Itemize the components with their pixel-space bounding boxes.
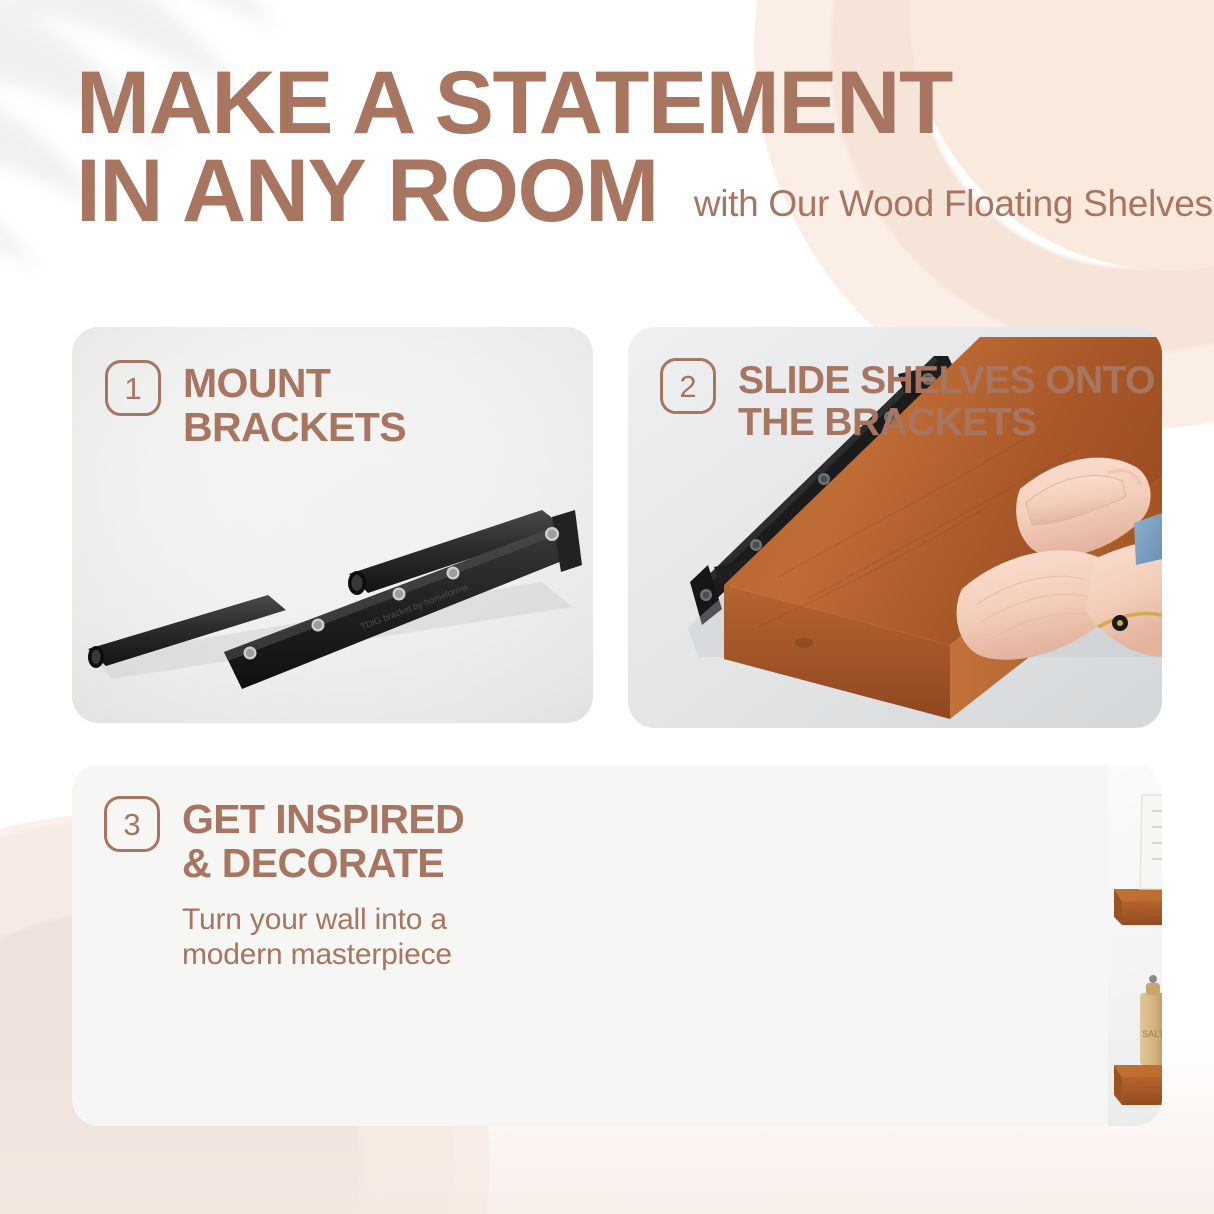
headline-subtitle: with Our Wood Floating Shelves bbox=[694, 182, 1213, 235]
step-2-heading: 2 SLIDE SHELVES ONTO THE BRACKETS bbox=[660, 358, 1155, 443]
headline-block: MAKE A STATEMENT IN ANY ROOM with Our Wo… bbox=[76, 58, 1166, 234]
headline-line-2: IN ANY ROOM bbox=[76, 146, 658, 234]
step-1-title: MOUNT BRACKETS bbox=[183, 362, 406, 450]
svg-text:SALT: SALT bbox=[1142, 1029, 1162, 1039]
step-card-1: TDIG bracket by homeforma 1 MOUNT BRACKE… bbox=[72, 327, 593, 723]
step-3-heading: 3 GET INSPIRED & DECORATE bbox=[104, 796, 464, 886]
step-3-title: GET INSPIRED & DECORATE bbox=[182, 798, 464, 886]
step-2-number-badge: 2 bbox=[660, 358, 716, 414]
step-3-subtitle: Turn your wall into a modern masterpiece bbox=[182, 902, 452, 972]
step-3-photo: SALT PEPPER bbox=[590, 765, 1162, 1126]
step-card-3: SALT PEPPER bbox=[72, 765, 1162, 1126]
infographic-canvas: MAKE A STATEMENT IN ANY ROOM with Our Wo… bbox=[0, 0, 1214, 1214]
step-card-2: 2 SLIDE SHELVES ONTO THE BRACKETS Flush-… bbox=[628, 327, 1162, 728]
headline-line-1: MAKE A STATEMENT bbox=[76, 58, 1166, 146]
step-3-number-badge: 3 bbox=[104, 796, 160, 852]
step-2-title: SLIDE SHELVES ONTO THE BRACKETS bbox=[738, 360, 1155, 443]
step-1-heading: 1 MOUNT BRACKETS bbox=[105, 360, 406, 450]
step-1-number-badge: 1 bbox=[105, 360, 161, 416]
